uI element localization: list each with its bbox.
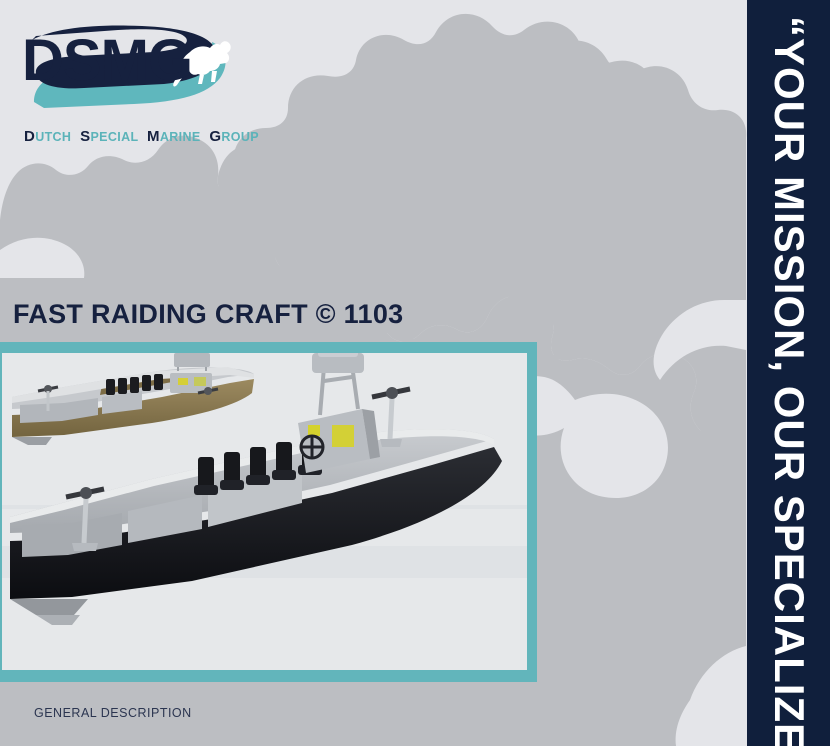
company-logo: DSMG DUTCH SPECIAL MARINE GROUP <box>14 18 254 138</box>
tagline-rest-arine: ARINE <box>160 130 201 144</box>
tagline-cap-m: M <box>147 128 160 145</box>
slide-canvas: DSMG DUTCH SPECIAL MARINE GROUP FAST RAI… <box>0 0 830 746</box>
tagline-cap-d: D <box>24 128 35 145</box>
section-caption: GENERAL DESCRIPTION <box>34 706 192 720</box>
tagline-word-special: SPECIAL <box>80 130 142 144</box>
side-banner-text: “YOUR MISSION, OUR SPECIALIZE <box>765 16 813 746</box>
tagline-word-dutch: DUTCH <box>24 130 75 144</box>
boats-render <box>2 353 527 670</box>
tagline-rest-utch: UTCH <box>35 130 71 144</box>
svg-text:DSMG: DSMG <box>22 28 192 93</box>
logo-mark-dsmg: DSMG <box>14 18 242 110</box>
logo-tagline: DUTCH SPECIAL MARINE GROUP <box>24 128 264 145</box>
tagline-word-group: GROUP <box>209 130 259 144</box>
side-banner: “YOUR MISSION, OUR SPECIALIZE <box>747 0 830 746</box>
tagline-rest-roup: ROUP <box>221 130 259 144</box>
tagline-cap-g: G <box>209 128 221 145</box>
product-image <box>2 353 527 670</box>
tagline-cap-s: S <box>80 128 90 145</box>
tagline-rest-pecial: PECIAL <box>91 130 139 144</box>
tagline-word-marine: MARINE <box>147 130 204 144</box>
mast-radar <box>312 353 364 415</box>
boat-rear <box>12 353 254 445</box>
product-image-frame <box>0 342 537 682</box>
page-title: FAST RAIDING CRAFT © 1103 <box>13 299 403 330</box>
